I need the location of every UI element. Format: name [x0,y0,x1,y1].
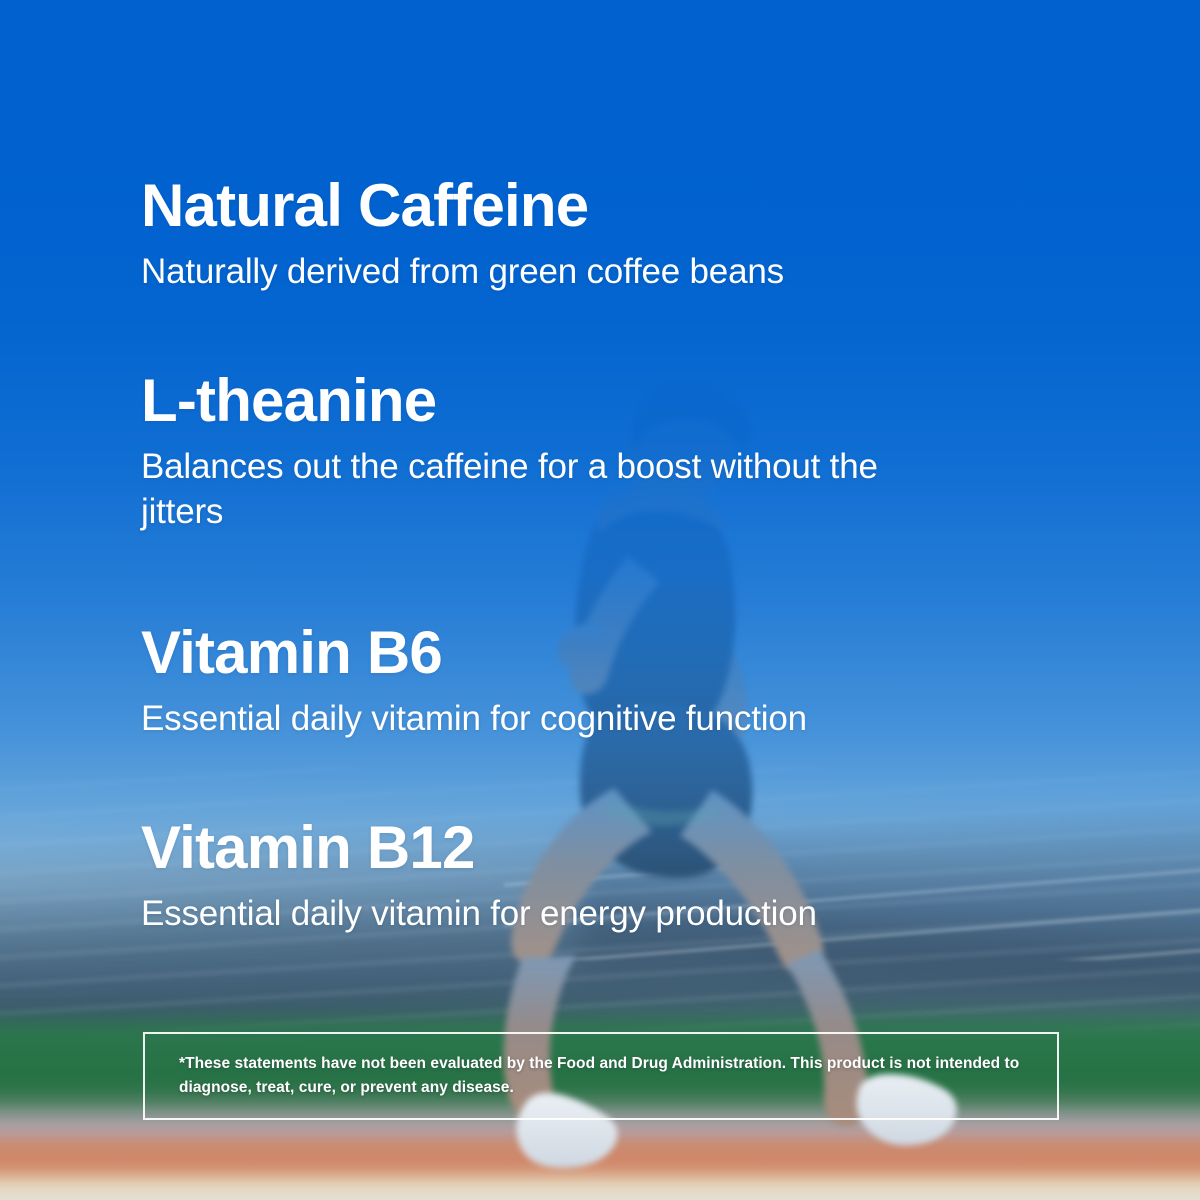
ingredient-description: Balances out the caffeine for a boost wi… [141,445,901,535]
ingredient-title: Natural Caffeine [141,176,784,236]
fda-disclaimer-box: *These statements have not been evaluate… [143,1032,1059,1120]
ingredient-block-natural-caffeine: Natural Caffeine Naturally derived from … [141,176,784,295]
ingredient-block-vitamin-b6: Vitamin B6 Essential daily vitamin for c… [141,623,807,742]
ingredient-title: Vitamin B12 [141,818,817,878]
ingredient-title: L-theanine [141,371,901,431]
ingredient-description: Naturally derived from green coffee bean… [141,250,784,295]
fda-disclaimer-text: *These statements have not been evaluate… [179,1052,1023,1100]
ingredient-description: Essential daily vitamin for energy produ… [141,892,817,937]
ingredient-benefits-panel: Natural Caffeine Naturally derived from … [0,0,1200,1200]
content-layer: Natural Caffeine Naturally derived from … [0,0,1200,1200]
ingredient-description: Essential daily vitamin for cognitive fu… [141,697,807,742]
ingredient-block-vitamin-b12: Vitamin B12 Essential daily vitamin for … [141,818,817,937]
ingredient-title: Vitamin B6 [141,623,807,683]
ingredient-block-l-theanine: L-theanine Balances out the caffeine for… [141,371,901,535]
